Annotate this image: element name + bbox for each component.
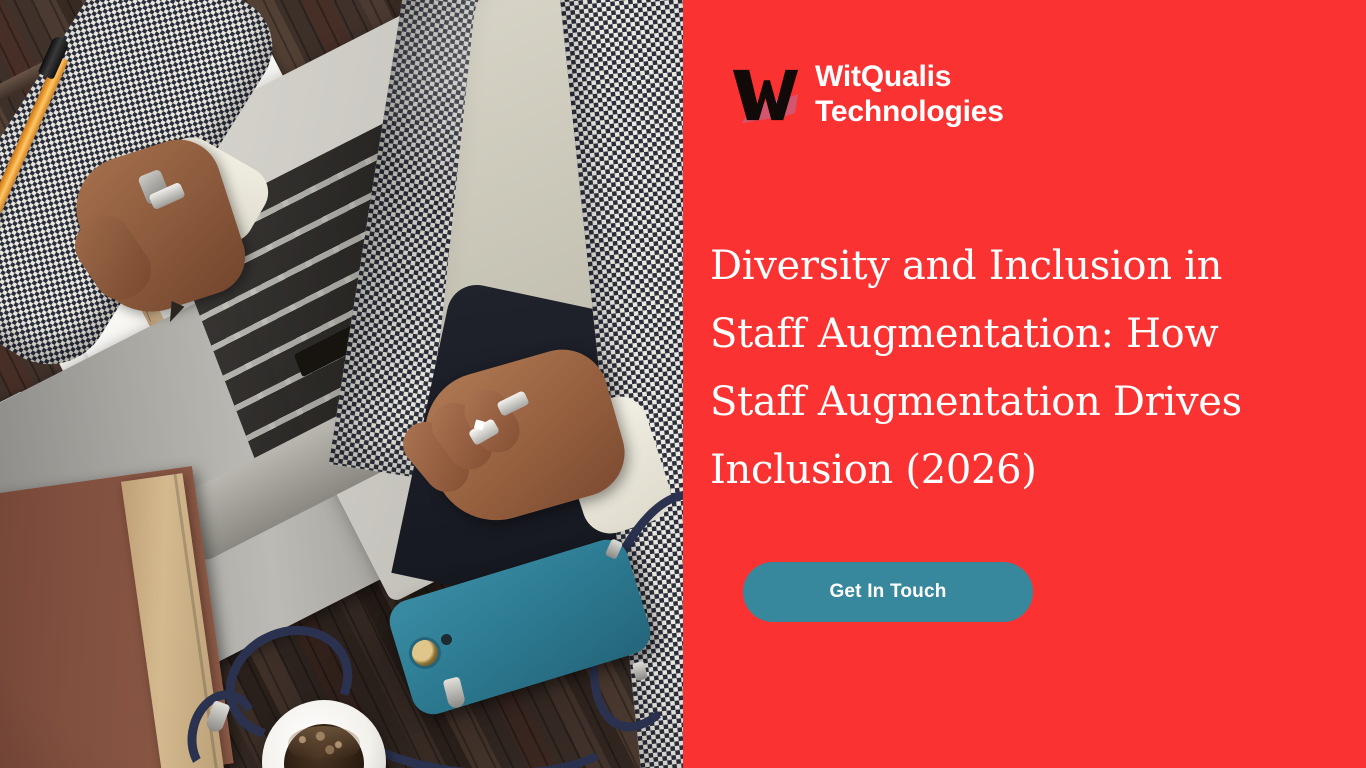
cta-container: Get In Touch [743,562,1366,622]
hero-photo [0,0,683,768]
witqualis-w-logo-icon [727,58,801,132]
coffee-crema [288,726,360,760]
blog-hero-banner: WitQualis Technologies Diversity and Inc… [0,0,1366,768]
brand-lockup: WitQualis Technologies [727,58,1366,132]
get-in-touch-button[interactable]: Get In Touch [743,562,1033,622]
brand-name: WitQualis Technologies [815,60,1004,130]
hero-content-panel: WitQualis Technologies Diversity and Inc… [683,0,1366,768]
page-title: Diversity and Inclusion in Staff Augment… [710,232,1310,504]
